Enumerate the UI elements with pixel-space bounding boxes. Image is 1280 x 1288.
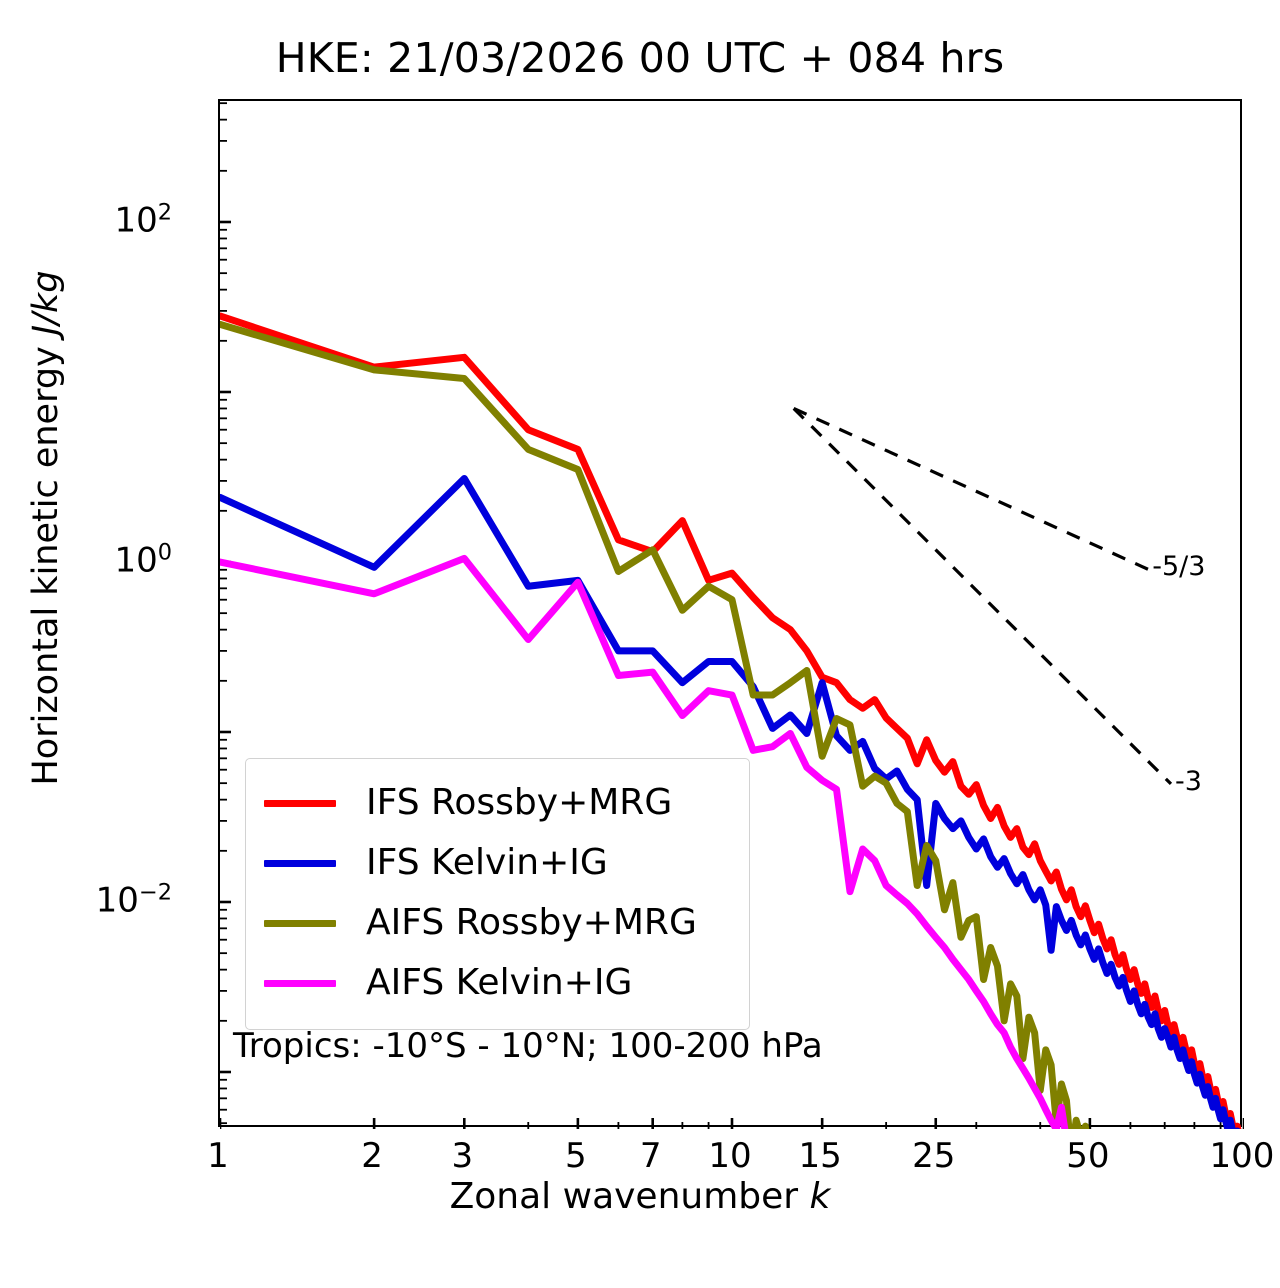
x-axis-label: Zonal wavenumber k [0, 1176, 1280, 1217]
legend-color-swatch [264, 920, 336, 927]
legend-color-swatch [264, 860, 336, 867]
x-axis-label-symbol: k [810, 1176, 831, 1217]
x-axis-label-text: Zonal wavenumber [450, 1176, 810, 1217]
x-tick-label: 25 [912, 1136, 955, 1176]
y-tick-label: 100 [114, 539, 172, 580]
chart-title: HKE: 21/03/2026 00 UTC + 084 hrs [0, 38, 1280, 79]
legend-item[interactable]: IFS Rossby+MRG [264, 773, 733, 833]
reference-slope-label: -5/3 [1152, 551, 1205, 582]
reference-slope-line [794, 408, 1148, 569]
legend-item[interactable]: AIFS Rossby+MRG [264, 893, 733, 953]
figure-root: HKE: 21/03/2026 00 UTC + 084 hrs Horizon… [0, 0, 1280, 1288]
x-tick-label: 5 [565, 1136, 587, 1176]
legend-color-swatch [264, 980, 336, 987]
y-tick-label-group: 10210010−2 [0, 0, 172, 1028]
x-tick-label: 1 [207, 1136, 229, 1176]
y-tick-label: 102 [114, 199, 172, 240]
region-annotation: Tropics: -10°S - 10°N; 100-200 hPa [233, 1026, 823, 1066]
legend-item-label: AIFS Rossby+MRG [366, 905, 697, 941]
legend-item-label: AIFS Kelvin+IG [366, 965, 632, 1001]
legend-item[interactable]: IFS Kelvin+IG [264, 833, 733, 893]
legend-item[interactable]: AIFS Kelvin+IG [264, 953, 733, 1013]
legend-color-swatch [264, 800, 336, 807]
x-tick-label: 15 [799, 1136, 842, 1176]
reference-slope-label: -3 [1175, 766, 1202, 797]
legend-item-label: IFS Rossby+MRG [366, 785, 672, 821]
x-tick-label: 3 [451, 1136, 473, 1176]
x-tick-label: 10 [708, 1136, 751, 1176]
legend: IFS Rossby+MRGIFS Kelvin+IGAIFS Rossby+M… [245, 758, 750, 1030]
y-tick-label: 10−2 [96, 879, 172, 920]
x-tick-label: 2 [361, 1136, 383, 1176]
x-tick-label: 50 [1066, 1136, 1109, 1176]
x-tick-label: 7 [640, 1136, 662, 1176]
x-tick-label: 100 [1210, 1136, 1275, 1176]
legend-item-label: IFS Kelvin+IG [366, 845, 608, 881]
